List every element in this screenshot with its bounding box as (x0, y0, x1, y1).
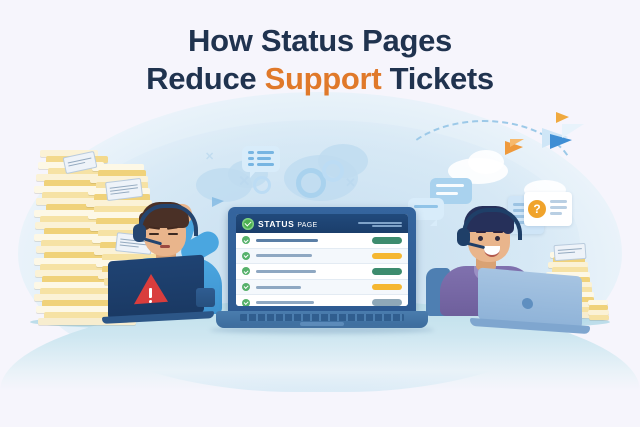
paper-plane-icon (505, 139, 531, 157)
status-badge (372, 253, 402, 260)
service-name-bar (256, 286, 301, 289)
paper-plane-icon (542, 124, 588, 158)
check-icon (242, 252, 250, 260)
warning-exclamation-icon (149, 288, 152, 298)
status-badge (372, 284, 402, 291)
status-page-brand: STATUS PAGE (258, 219, 317, 229)
status-row[interactable] (236, 280, 408, 296)
headset-icon (462, 208, 522, 240)
coffee-mug (196, 288, 215, 307)
status-badge (372, 299, 402, 306)
page-title: How Status Pages Reduce Support Tickets (0, 22, 640, 98)
title-highlight: Support (265, 61, 382, 96)
gear-icon (322, 160, 344, 182)
status-page-brand-main: STATUS (258, 219, 297, 229)
green-check-circle-icon (242, 218, 254, 230)
x-icon: ✕ (345, 176, 356, 189)
title-line-1: How Status Pages (188, 23, 452, 58)
service-name-bar (256, 301, 314, 304)
laptop-shadow (210, 326, 434, 334)
status-row[interactable] (236, 249, 408, 265)
check-icon (242, 267, 250, 275)
status-row[interactable] (236, 264, 408, 280)
service-name-bar (256, 239, 318, 242)
status-page-screen: STATUS PAGE (236, 214, 408, 306)
x-icon: ✕ (238, 174, 251, 189)
laptop-keyboard (240, 314, 404, 321)
check-icon (242, 283, 250, 291)
status-badge (372, 237, 402, 244)
chat-bubble-icon (242, 146, 280, 172)
paper-plane-icon (556, 110, 574, 124)
service-name-bar (256, 254, 312, 257)
right-laptop-logo-icon (522, 298, 533, 310)
status-row[interactable] (236, 295, 408, 306)
status-page-meta (356, 220, 402, 227)
gear-icon (253, 176, 271, 194)
cloud-icon (468, 150, 504, 174)
right-laptop (470, 272, 590, 342)
title-line-2-part-2: Tickets (381, 61, 494, 96)
service-name-bar (256, 270, 316, 273)
title-line-2-part-1: Reduce (146, 61, 265, 96)
status-row[interactable] (236, 233, 408, 249)
status-page-rows (236, 233, 408, 306)
x-icon: ✕ (205, 152, 214, 163)
check-icon (242, 236, 250, 244)
status-page-header: STATUS PAGE (236, 214, 408, 233)
laptop-lid: STATUS PAGE (228, 207, 416, 314)
illustration-canvas: ✕ ✕ ✕ (0, 0, 640, 427)
status-page-brand-sub: PAGE (297, 222, 317, 229)
title-line-2: Reduce Support Tickets (0, 60, 640, 98)
status-badge (372, 268, 402, 275)
central-laptop: STATUS PAGE (216, 207, 428, 347)
check-icon (242, 299, 250, 306)
